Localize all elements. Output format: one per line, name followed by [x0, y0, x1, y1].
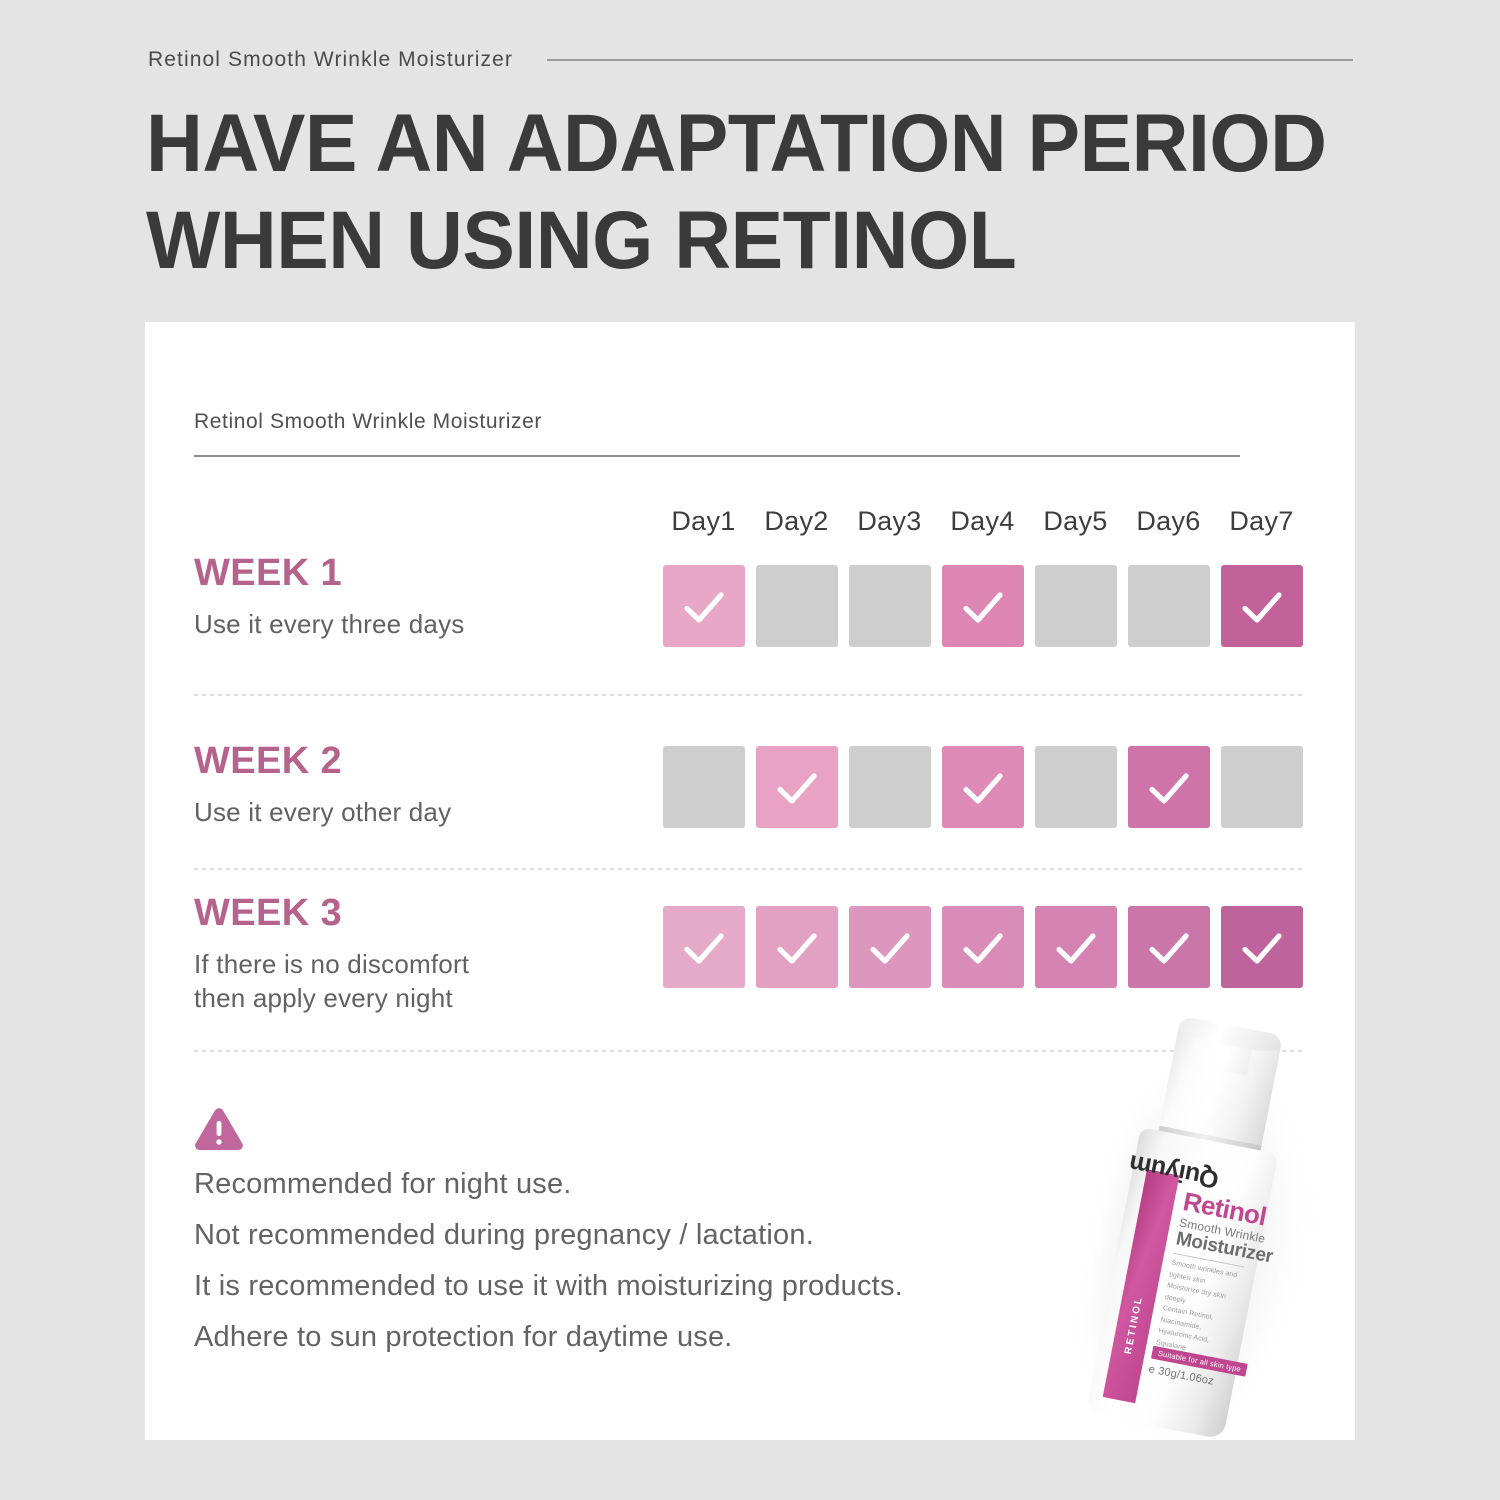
week-2-checkbox-row [657, 746, 1308, 828]
row-separator-2 [194, 868, 1304, 870]
check-icon [960, 766, 1006, 812]
day-header-2: Day2 [750, 506, 843, 537]
check-icon [681, 926, 727, 972]
page-title-line-1: HAVE AN ADAPTATION PERIOD [146, 96, 1327, 193]
checkbox-checked-week1-day4[interactable] [942, 565, 1024, 647]
checkbox-slot [936, 906, 1029, 988]
check-icon [1239, 926, 1285, 972]
check-icon [774, 766, 820, 812]
checkbox-slot [1029, 565, 1122, 647]
check-icon [681, 585, 727, 631]
checkbox-slot [843, 906, 936, 988]
header-divider [547, 59, 1353, 61]
checkbox-slot [750, 746, 843, 828]
checkbox-slot [1215, 746, 1308, 828]
page-title-line-2: WHEN USING RETINOL [146, 193, 1327, 290]
note-line-4: Adhere to sun protection for daytime use… [194, 1323, 1094, 1352]
checkbox-checked-week1-day7[interactable] [1221, 565, 1303, 647]
week-3-text: WEEK 3 If there is no discomfort then ap… [194, 894, 469, 1016]
checkbox-empty-week1-day2[interactable] [756, 565, 838, 647]
day-header-6: Day6 [1122, 506, 1215, 537]
check-icon [1146, 766, 1192, 812]
day-header-row: Day1 Day2 Day3 Day4 Day5 Day6 Day7 [657, 506, 1308, 537]
check-icon [1146, 926, 1192, 972]
week-2-subtitle: Use it every other day [194, 795, 451, 830]
checkbox-checked-week2-day2[interactable] [756, 746, 838, 828]
top-header-label: Retinol Smooth Wrinkle Moisturizer [148, 48, 513, 72]
checkbox-slot [843, 746, 936, 828]
notes-list: Recommended for night use. Not recommend… [194, 1170, 1094, 1352]
checkbox-slot [1215, 906, 1308, 988]
checkbox-slot [657, 746, 750, 828]
checkbox-empty-week2-day3[interactable] [849, 746, 931, 828]
checkbox-empty-week2-day7[interactable] [1221, 746, 1303, 828]
checkbox-slot [936, 746, 1029, 828]
day-header-5: Day5 [1029, 506, 1122, 537]
checkbox-checked-week1-day1[interactable] [663, 565, 745, 647]
week-1-subtitle: Use it every three days [194, 607, 465, 642]
week-3-subtitle-line-2: then apply every night [194, 983, 453, 1013]
note-line-1: Recommended for night use. [194, 1170, 1094, 1199]
check-icon [960, 585, 1006, 631]
card-title: Retinol Smooth Wrinkle Moisturizer [194, 410, 542, 434]
checkbox-checked-week2-day6[interactable] [1128, 746, 1210, 828]
check-icon [774, 926, 820, 972]
checkbox-checked-week2-day4[interactable] [942, 746, 1024, 828]
card-divider [194, 455, 1240, 457]
note-line-2: Not recommended during pregnancy / lacta… [194, 1221, 1094, 1250]
product-bottle-image: RETINOL Quiyum Retinol Smooth Wrinkle Mo… [1045, 1012, 1345, 1440]
checkbox-empty-week1-day3[interactable] [849, 565, 931, 647]
day-header-7: Day7 [1215, 506, 1308, 537]
checkbox-empty-week2-day5[interactable] [1035, 746, 1117, 828]
week-2-heading: WEEK 2 [194, 742, 451, 782]
checkbox-slot [750, 906, 843, 988]
row-separator-1 [194, 694, 1304, 696]
checkbox-slot [1029, 746, 1122, 828]
checkbox-slot [657, 565, 750, 647]
checkbox-slot [750, 565, 843, 647]
check-icon [1053, 926, 1099, 972]
checkbox-checked-week3-day4[interactable] [942, 906, 1024, 988]
day-header-4: Day4 [936, 506, 1029, 537]
top-header: Retinol Smooth Wrinkle Moisturizer [148, 48, 1353, 72]
day-header-3: Day3 [843, 506, 936, 537]
checkbox-empty-week1-day6[interactable] [1128, 565, 1210, 647]
checkbox-checked-week3-day6[interactable] [1128, 906, 1210, 988]
week-1-text: WEEK 1 Use it every three days [194, 554, 465, 641]
checkbox-slot [936, 565, 1029, 647]
warning-triangle-icon [193, 1105, 245, 1151]
checkbox-slot [1122, 906, 1215, 988]
checkbox-empty-week1-day5[interactable] [1035, 565, 1117, 647]
checkbox-checked-week3-day2[interactable] [756, 906, 838, 988]
check-icon [867, 926, 913, 972]
checkbox-slot [1122, 746, 1215, 828]
checkbox-checked-week3-day7[interactable] [1221, 906, 1303, 988]
week-1-heading: WEEK 1 [194, 554, 465, 594]
week-3-heading: WEEK 3 [194, 894, 469, 934]
week-2-text: WEEK 2 Use it every other day [194, 742, 451, 829]
week-3-subtitle-line-1: If there is no discomfort [194, 949, 469, 979]
week-3-subtitle: If there is no discomfort then apply eve… [194, 947, 469, 1016]
check-icon [1239, 585, 1285, 631]
infographic-page: Retinol Smooth Wrinkle Moisturizer HAVE … [0, 0, 1500, 1500]
checkbox-checked-week3-day1[interactable] [663, 906, 745, 988]
checkbox-slot [1215, 565, 1308, 647]
schedule-card: Retinol Smooth Wrinkle Moisturizer Day1 … [145, 322, 1355, 1440]
checkbox-checked-week3-day3[interactable] [849, 906, 931, 988]
check-icon [960, 926, 1006, 972]
checkbox-slot [1029, 906, 1122, 988]
checkbox-slot [843, 565, 936, 647]
day-header-1: Day1 [657, 506, 750, 537]
checkbox-slot [657, 906, 750, 988]
checkbox-empty-week2-day1[interactable] [663, 746, 745, 828]
note-line-3: It is recommended to use it with moistur… [194, 1272, 1094, 1301]
checkbox-slot [1122, 565, 1215, 647]
week-1-checkbox-row [657, 565, 1308, 647]
week-3-checkbox-row [657, 906, 1308, 988]
checkbox-checked-week3-day5[interactable] [1035, 906, 1117, 988]
page-title: HAVE AN ADAPTATION PERIOD WHEN USING RET… [146, 96, 1327, 290]
